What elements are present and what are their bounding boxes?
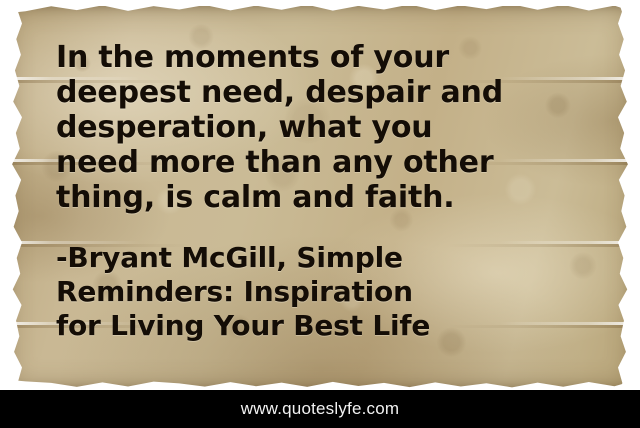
quote-poster: In the moments of your deepest need, des… <box>0 0 640 428</box>
quote-body: In the moments of your deepest need, des… <box>56 40 576 215</box>
quote-attribution: -Bryant McGill, Simple Reminders: Inspir… <box>56 215 576 343</box>
website-url[interactable]: www.quoteslyfe.com <box>241 399 400 419</box>
quote-text-block: In the moments of your deepest need, des… <box>56 40 576 343</box>
footer-bar: www.quoteslyfe.com <box>0 390 640 428</box>
